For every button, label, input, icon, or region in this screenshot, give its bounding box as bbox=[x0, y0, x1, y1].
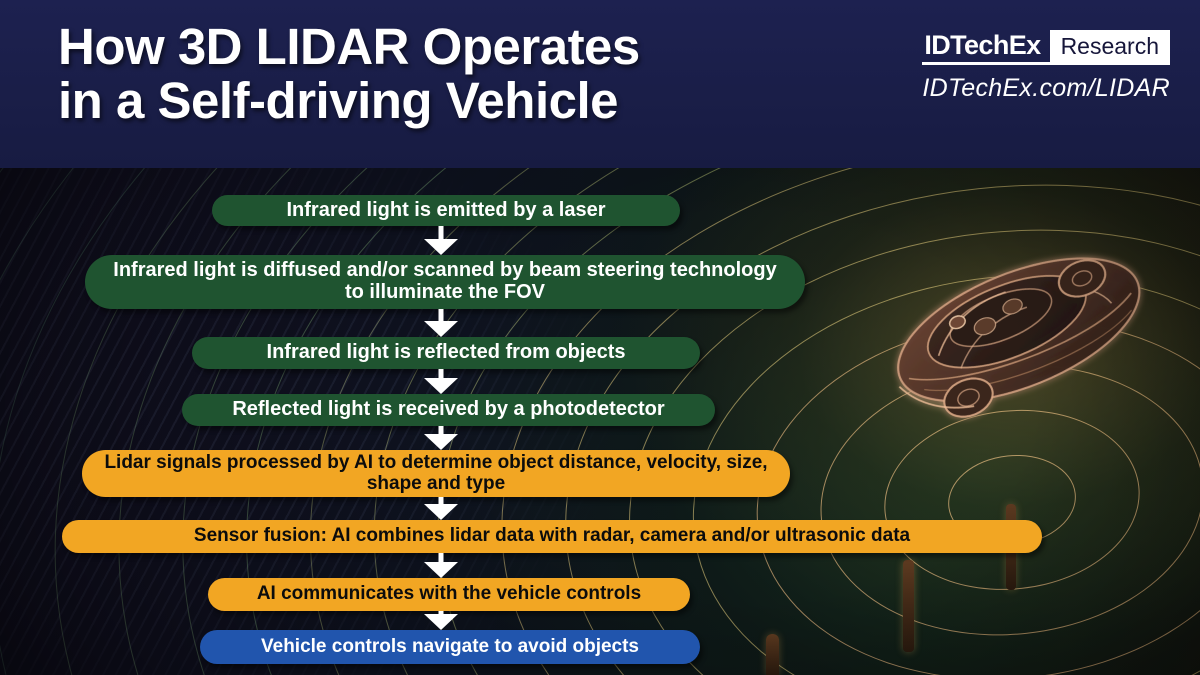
flow-step-6: Sensor fusion: AI combines lidar data wi… bbox=[62, 520, 1042, 553]
flow-step-4: Reflected light is received by a photode… bbox=[182, 394, 715, 426]
title-line-1: How 3D LIDAR Operates bbox=[58, 18, 640, 75]
flow-step-label: Sensor fusion: AI combines lidar data wi… bbox=[82, 526, 1022, 547]
flow-step-label: AI communicates with the vehicle control… bbox=[228, 584, 670, 605]
arrow-head-icon bbox=[424, 562, 458, 578]
flow-step-label: Infrared light is diffused and/or scanne… bbox=[105, 260, 785, 303]
infographic-canvas: How 3D LIDAR Operates in a Self-driving … bbox=[0, 0, 1200, 675]
logo-wordmark: IDTechEx bbox=[922, 30, 1049, 65]
logo-research-badge: Research bbox=[1050, 30, 1170, 65]
arrow-head-icon bbox=[424, 434, 458, 450]
arrow-head-icon bbox=[424, 504, 458, 520]
arrow-head-icon bbox=[424, 614, 458, 630]
flow-step-3: Infrared light is reflected from objects bbox=[192, 337, 700, 369]
process-flow: Infrared light is emitted by a laserInfr… bbox=[0, 168, 1200, 675]
flow-connector-3 bbox=[424, 369, 458, 394]
flow-step-7: AI communicates with the vehicle control… bbox=[208, 578, 690, 611]
flow-step-label: Lidar signals processed by AI to determi… bbox=[102, 453, 770, 494]
flow-step-1: Infrared light is emitted by a laser bbox=[212, 195, 680, 226]
brand-logo[interactable]: IDTechEx Research IDTechEx.com/LIDAR bbox=[878, 30, 1170, 103]
flow-step-8: Vehicle controls navigate to avoid objec… bbox=[200, 630, 700, 664]
flow-step-label: Infrared light is emitted by a laser bbox=[232, 200, 660, 222]
title-line-2: in a Self-driving Vehicle bbox=[58, 74, 888, 128]
logo-lockup: IDTechEx Research bbox=[878, 30, 1170, 65]
flow-connector-7 bbox=[424, 611, 458, 630]
logo-url: IDTechEx.com/LIDAR bbox=[878, 74, 1170, 103]
arrow-head-icon bbox=[424, 239, 458, 255]
arrow-head-icon bbox=[424, 321, 458, 337]
flow-connector-6 bbox=[424, 553, 458, 578]
flow-step-label: Infrared light is reflected from objects bbox=[212, 342, 680, 364]
arrow-head-icon bbox=[424, 378, 458, 394]
flow-connector-2 bbox=[424, 309, 458, 337]
flow-connector-1 bbox=[424, 226, 458, 255]
flow-step-label: Reflected light is received by a photode… bbox=[202, 399, 695, 421]
flow-connector-5 bbox=[424, 497, 458, 520]
page-title: How 3D LIDAR Operates in a Self-driving … bbox=[58, 20, 888, 128]
flow-step-2: Infrared light is diffused and/or scanne… bbox=[85, 255, 805, 309]
flow-connector-4 bbox=[424, 426, 458, 450]
header-band: How 3D LIDAR Operates in a Self-driving … bbox=[0, 0, 1200, 168]
flow-step-label: Vehicle controls navigate to avoid objec… bbox=[220, 637, 680, 658]
flow-step-5: Lidar signals processed by AI to determi… bbox=[82, 450, 790, 497]
